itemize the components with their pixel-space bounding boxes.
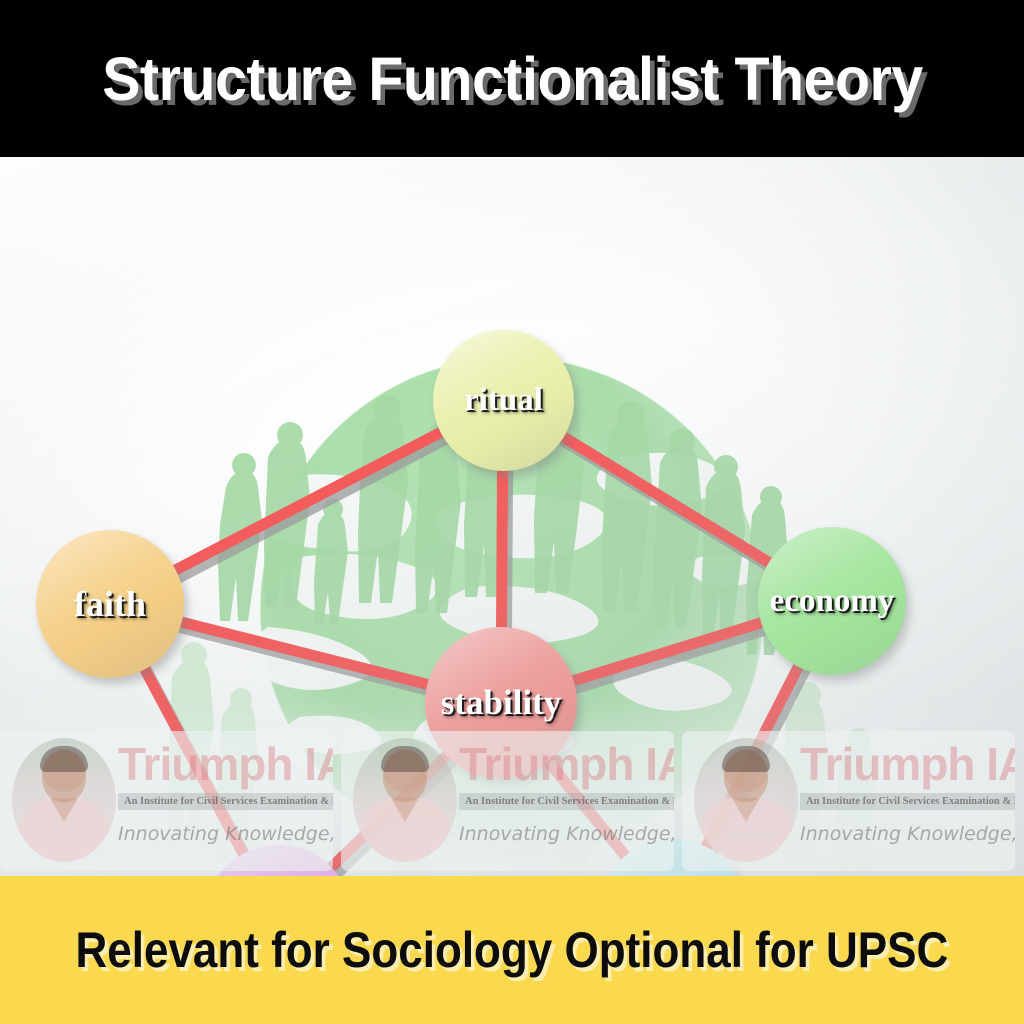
page-title: Structure Functionalist Theory — [102, 44, 923, 114]
caption-text: Relevant for Sociology Optional for UPSC — [76, 921, 949, 979]
screenshot-root: Structure Functionalist Theory — [0, 0, 1024, 1024]
node-ritual[interactable]: ritual — [433, 330, 574, 471]
bottom-caption-banner: Relevant for Sociology Optional for UPSC — [0, 876, 1024, 1024]
node-stability[interactable]: stability — [425, 627, 577, 779]
top-title-banner: Structure Functionalist Theory — [0, 0, 1024, 157]
node-economy-label: economy — [770, 583, 895, 620]
node-ritual-label: ritual — [464, 382, 543, 419]
node-stability-label: stability — [441, 683, 562, 723]
node-faith-label: faith — [74, 583, 146, 625]
node-faith[interactable]: faith — [36, 530, 184, 678]
node-economy[interactable]: economy — [758, 527, 906, 675]
diagram-canvas: ritual faith economy stability education… — [0, 157, 1024, 876]
